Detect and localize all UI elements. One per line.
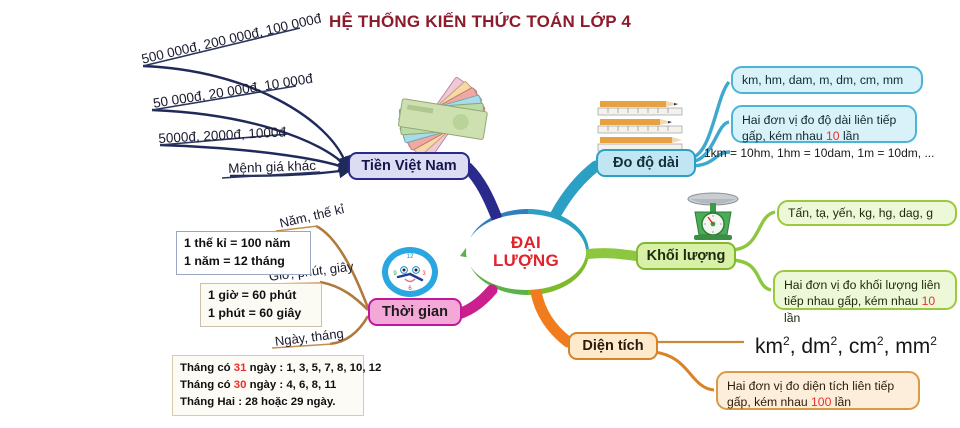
svg-text:12: 12 <box>407 254 414 260</box>
month-31-count: 31 <box>234 362 247 374</box>
area-rule-bubble: Hai đơn vị đo diện tích liên tiếp gấp, k… <box>716 371 920 410</box>
branch-node-money[interactable]: Tiền Việt Nam <box>348 152 470 180</box>
fact-hour-line1: 1 giờ = 60 phút <box>208 287 314 305</box>
weight-rule-factor: 10 <box>922 294 936 308</box>
length-units-text: km, hm, dam, m, dm, cm, mm <box>742 72 903 88</box>
month-30-count: 30 <box>234 379 247 391</box>
fact-hour-line2: 1 phút = 60 giây <box>208 305 314 323</box>
branch-node-length[interactable]: Đo độ dài <box>596 149 696 177</box>
mindmap-canvas: HỆ THỐNG KIẾN THỨC TOÁN LỚP 4 ĐẠI LƯỢNG … <box>0 0 960 428</box>
fact-box-month: Tháng có 31 ngày : 1, 3, 5, 7, 8, 10, 12… <box>172 355 364 416</box>
kitchen-scale-icon <box>682 189 744 247</box>
fact-month-31: Tháng có 31 ngày : 1, 3, 5, 7, 8, 10, 12 <box>180 360 356 377</box>
center-node-line1: ĐẠI <box>511 234 541 252</box>
branch-node-length-label: Đo độ dài <box>613 155 679 171</box>
banknotes-icon <box>392 74 494 154</box>
area-units-text: km2, dm2, cm2, mm2 <box>755 334 937 359</box>
area-rule-factor: 100 <box>811 395 831 409</box>
ruler-pencil-icon <box>594 96 686 154</box>
fact-box-century: 1 thế kỉ = 100 năm 1 năm = 12 tháng <box>176 231 311 275</box>
branch-node-area-label: Diện tích <box>582 338 643 354</box>
page-title: HỆ THỐNG KIẾN THỨC TOÁN LỚP 4 <box>0 12 960 32</box>
center-node-line2: LƯỢNG <box>493 252 559 270</box>
weight-units-text: Tấn, tạ, yến, kg, hg, dag, g <box>788 205 933 221</box>
fact-century-line1: 1 thế kỉ = 100 năm <box>184 235 303 253</box>
branch-node-money-label: Tiền Việt Nam <box>361 158 456 174</box>
weight-rule-bubble: Hai đơn vị đo khối lượng liên tiếp nhau … <box>773 270 957 310</box>
length-units-bubble: km, hm, dam, m, dm, cm, mm <box>731 66 923 94</box>
fact-box-hour: 1 giờ = 60 phút 1 phút = 60 giây <box>200 283 322 327</box>
length-example-text: 1km = 10hm, 1hm = 10dam, 1m = 10dm, ... <box>704 146 934 160</box>
fact-century-line2: 1 năm = 12 tháng <box>184 253 303 271</box>
fact-month-30: Tháng có 30 ngày : 4, 6, 8, 11 <box>180 377 356 394</box>
length-rule-factor: 10 <box>826 129 840 143</box>
weight-units-bubble: Tấn, tạ, yến, kg, hg, dag, g <box>777 200 957 226</box>
branch-node-area[interactable]: Diện tích <box>568 332 658 360</box>
branch-node-weight[interactable]: Khối lượng <box>636 242 736 270</box>
center-node[interactable]: ĐẠI LƯỢNG <box>466 214 586 290</box>
length-rule-bubble: Hai đơn vị đo độ dài liên tiếp gấp, kém … <box>731 105 917 143</box>
branch-node-time[interactable]: Thời gian <box>368 298 462 326</box>
clock-icon: 12 3 6 9 <box>379 244 441 300</box>
fact-month-february: Tháng Hai : 28 hoặc 29 ngày. <box>180 394 356 411</box>
branch-node-time-label: Thời gian <box>382 304 448 320</box>
money-denomination-other: Mệnh giá khác <box>228 158 316 176</box>
branch-node-weight-label: Khối lượng <box>647 248 726 264</box>
